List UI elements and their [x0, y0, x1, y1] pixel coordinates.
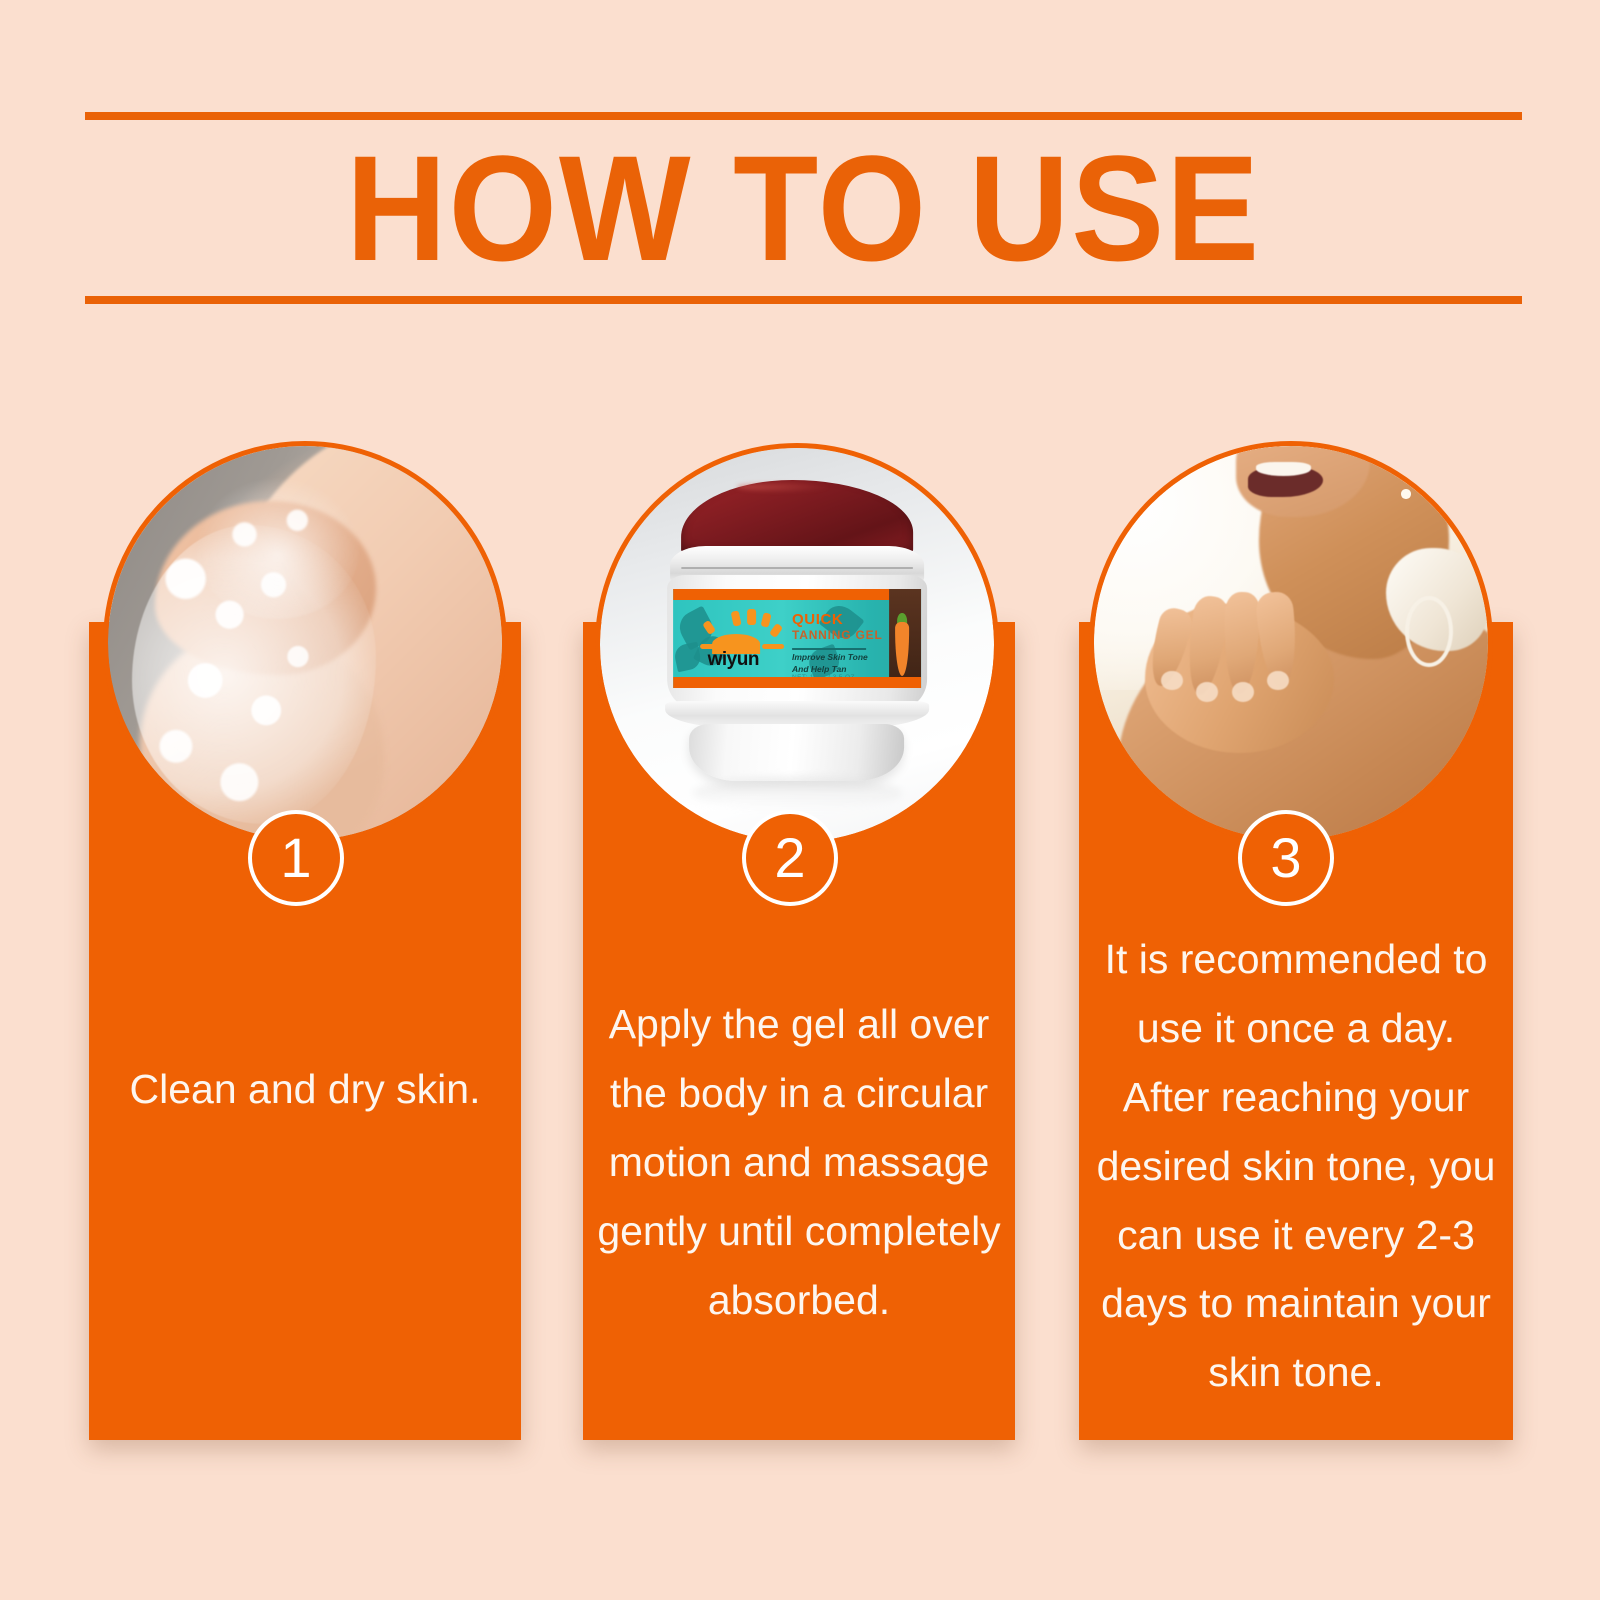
product-brand: wiyun [708, 650, 759, 669]
teeth-shape [1256, 462, 1311, 476]
jar-label: wiyun QUICK TANNING GEL Improve Skin Ton… [673, 589, 921, 688]
sun-ray-icon [700, 644, 722, 649]
product-tagline: Improve Skin Tone And Help Tan [792, 652, 871, 675]
step-number-badge-3: 3 [1238, 810, 1334, 906]
header-rule-bottom [85, 296, 1522, 304]
product-title-sub: TANNING GEL [792, 628, 883, 642]
sun-ray-icon [761, 612, 772, 627]
product-net-weight: NET: 100g / 3.5 OZ [792, 674, 855, 681]
fingernail-shape [1267, 671, 1289, 691]
leaf-icon [673, 642, 703, 672]
tagline-line-1: Improve Skin Tone [792, 652, 871, 663]
jar-lid [689, 724, 904, 780]
gel-highlight [737, 483, 830, 490]
soapy-hands-image [108, 446, 502, 840]
product-title-main: QUICK [792, 611, 843, 628]
foam-lather-highlight [195, 478, 360, 620]
product-title: QUICK TANNING GEL [792, 611, 883, 643]
fingernail-shape [1161, 671, 1183, 691]
jar-reflection [692, 777, 902, 810]
step-3-photo [1089, 441, 1493, 845]
carrot-panel [889, 589, 921, 688]
carrot-icon [895, 622, 910, 676]
tanned-shoulder-image [1094, 446, 1488, 840]
step-3-description: It is recommended to use it once a day. … [1089, 925, 1503, 1407]
page-header: HOW TO USE [85, 112, 1522, 304]
sun-ray-icon [762, 644, 784, 649]
step-1-photo [103, 441, 507, 845]
product-jar: wiyun QUICK TANNING GEL Improve Skin Ton… [659, 480, 935, 811]
sun-ray-icon [769, 623, 783, 638]
product-jar-image: wiyun QUICK TANNING GEL Improve Skin Ton… [600, 448, 994, 842]
label-divider [792, 648, 866, 650]
step-2-photo: wiyun QUICK TANNING GEL Improve Skin Ton… [595, 443, 999, 847]
earring [1401, 489, 1410, 498]
sun-ray-icon [731, 610, 742, 626]
jar-rim-line [681, 567, 913, 569]
fingernail-shape [1232, 682, 1254, 702]
step-2-description: Apply the gel all over the body in a cir… [593, 990, 1005, 1334]
step-1-description: Clean and dry skin. [99, 1055, 511, 1124]
page-title: HOW TO USE [135, 112, 1471, 304]
swimsuit-strap-loop [1405, 596, 1452, 667]
step-number-badge-1: 1 [248, 810, 344, 906]
step-number-badge-2: 2 [742, 810, 838, 906]
sun-ray-icon [747, 609, 755, 626]
